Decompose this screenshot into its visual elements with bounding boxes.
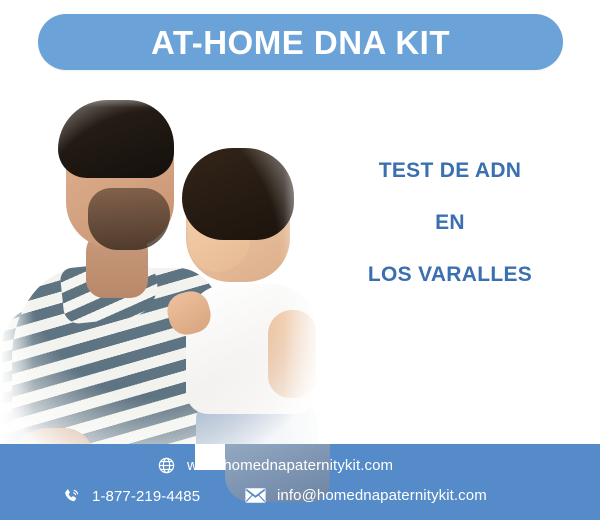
man-beard [88,188,170,250]
header-banner-pill: AT-HOME DNA KIT [38,14,563,70]
promo-banner-canvas: AT-HOME DNA KIT TEST DE ADN EN LOS VA [0,0,600,520]
family-photo-inner [0,78,330,498]
footer-website-row[interactable]: www.homednapaternitykit.com [157,456,393,475]
footer-email-text: info@homednapaternitykit.com [277,488,487,503]
headline-line-1: TEST DE ADN [315,160,585,181]
globe-icon [157,456,176,475]
headline-block: TEST DE ADN EN LOS VARALLES [315,160,585,285]
child-arm [268,310,316,398]
footer-website-text: www.homednapaternitykit.com [187,458,393,473]
phone-icon [62,487,81,506]
headline-line-3: LOS VARALLES [315,264,585,285]
footer-email-row[interactable]: info@homednapaternitykit.com [245,487,487,504]
headline-line-2: EN [315,212,585,233]
child-hair [182,148,294,240]
header-banner-title: AT-HOME DNA KIT [151,26,450,59]
family-photo [0,78,330,498]
envelope-icon [245,487,266,504]
man-hair [58,100,174,178]
footer-phone-row[interactable]: 1-877-219-4485 [62,487,200,506]
footer-phone-text: 1-877-219-4485 [92,489,200,504]
